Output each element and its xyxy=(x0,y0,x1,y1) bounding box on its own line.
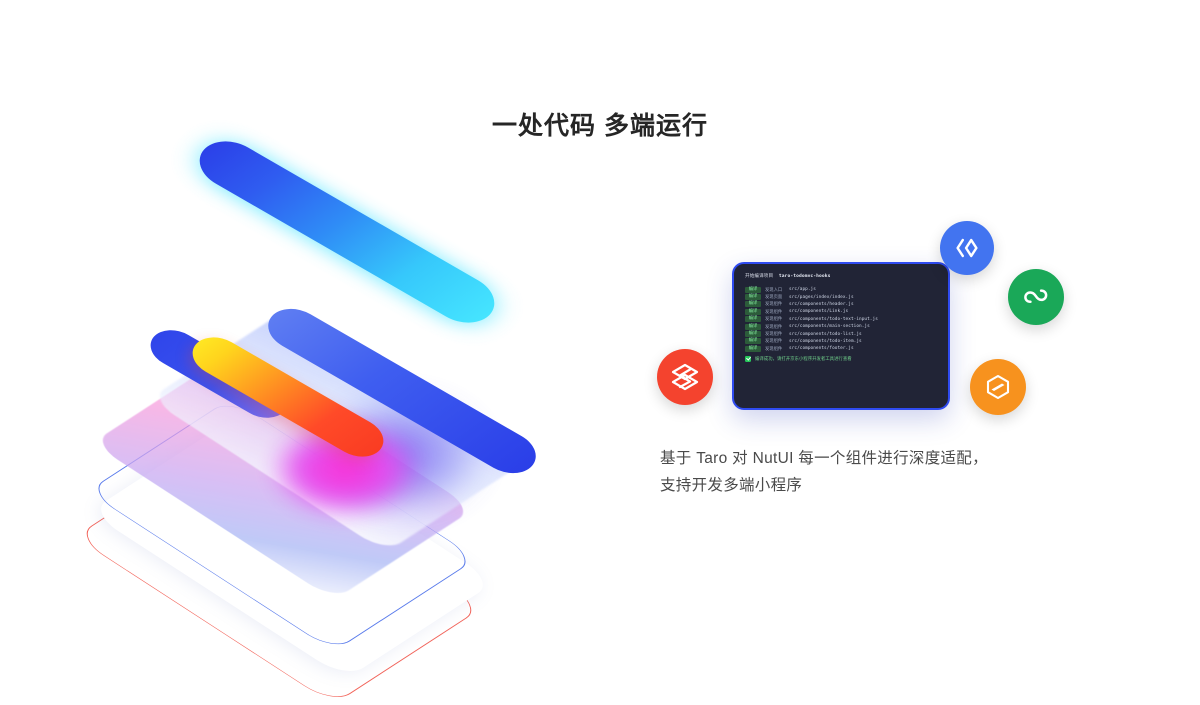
log-tag: 编译 xyxy=(745,346,761,352)
log-kind: 发现组件 xyxy=(765,309,785,315)
log-tag: 编译 xyxy=(745,301,761,307)
log-tag: 编译 xyxy=(745,316,761,322)
table-row: 编译 发现组件 src/components/header.js xyxy=(745,301,938,308)
terminal-log-list: 编译 发现入口 src/app.js 编译 发现页面 src/pages/ind… xyxy=(745,286,938,353)
compile-terminal-panel: 开始编译项目 taro-todomvc-hooks 编译 发现入口 src/ap… xyxy=(732,262,950,410)
page-title: 一处代码 多端运行 xyxy=(0,106,1200,142)
wechat-miniprogram-icon xyxy=(1008,269,1064,325)
log-tag: 编译 xyxy=(745,331,761,337)
log-path: src/pages/index/index.js xyxy=(789,295,854,300)
log-path: src/components/header.js xyxy=(789,302,854,307)
log-kind: 发现组件 xyxy=(765,301,785,307)
log-path: src/components/todo-item.js xyxy=(789,339,862,344)
caption-line-2: 支持开发多端小程序 xyxy=(660,472,1080,499)
compile-success-text: 编译成功，请打开京东小程序开发者工具进行查看 xyxy=(755,356,852,362)
isometric-layers-illustration xyxy=(120,185,550,605)
terminal-header-project: taro-todomvc-hooks xyxy=(779,274,831,279)
log-kind: 发现组件 xyxy=(765,346,785,352)
table-row: 编译 发现组件 src/components/todo-item.js xyxy=(745,338,938,345)
log-kind: 发现组件 xyxy=(765,331,785,337)
alipay-miniprogram-icon xyxy=(657,349,713,405)
caption-line-1: 基于 Taro 对 NutUI 每一个组件进行深度适配， xyxy=(660,445,1080,472)
log-path: src/components/Link.js xyxy=(789,309,848,314)
log-kind: 发现组件 xyxy=(765,338,785,344)
log-tag: 编译 xyxy=(745,324,761,330)
jd-miniprogram-icon xyxy=(970,359,1026,415)
log-path: src/app.js xyxy=(789,287,816,292)
terminal-header: 开始编译项目 taro-todomvc-hooks xyxy=(745,273,938,279)
check-icon xyxy=(745,356,751,362)
table-row: 编译 发现组件 src/components/Link.js xyxy=(745,308,938,315)
log-kind: 发现组件 xyxy=(765,316,785,322)
feature-caption: 基于 Taro 对 NutUI 每一个组件进行深度适配， 支持开发多端小程序 xyxy=(660,445,1080,499)
baidu-smart-program-icon xyxy=(940,221,994,275)
log-tag: 编译 xyxy=(745,338,761,344)
table-row: 编译 发现入口 src/app.js xyxy=(745,286,938,293)
log-kind: 发现入口 xyxy=(765,287,785,293)
log-kind: 发现组件 xyxy=(765,324,785,330)
log-path: src/components/todo-text-input.js xyxy=(789,317,878,322)
log-tag: 编译 xyxy=(745,309,761,315)
terminal-header-prefix: 开始编译项目 xyxy=(745,274,773,279)
table-row: 编译 发现组件 src/components/main-section.js xyxy=(745,323,938,330)
log-path: src/components/todo-list.js xyxy=(789,332,862,337)
table-row: 编译 发现组件 src/components/todo-list.js xyxy=(745,330,938,337)
illustration-bar-blue-cyan xyxy=(188,132,506,333)
log-path: src/components/main-section.js xyxy=(789,324,870,329)
table-row: 编译 发现组件 src/components/todo-text-input.j… xyxy=(745,316,938,323)
table-row: 编译 发现组件 src/components/footer.js xyxy=(745,345,938,352)
table-row: 编译 发现页面 src/pages/index/index.js xyxy=(745,293,938,300)
log-tag: 编译 xyxy=(745,294,761,300)
log-kind: 发现页面 xyxy=(765,294,785,300)
log-path: src/components/footer.js xyxy=(789,346,854,351)
log-tag: 编译 xyxy=(745,287,761,293)
compile-success-row: 编译成功，请打开京东小程序开发者工具进行查看 xyxy=(745,356,938,362)
